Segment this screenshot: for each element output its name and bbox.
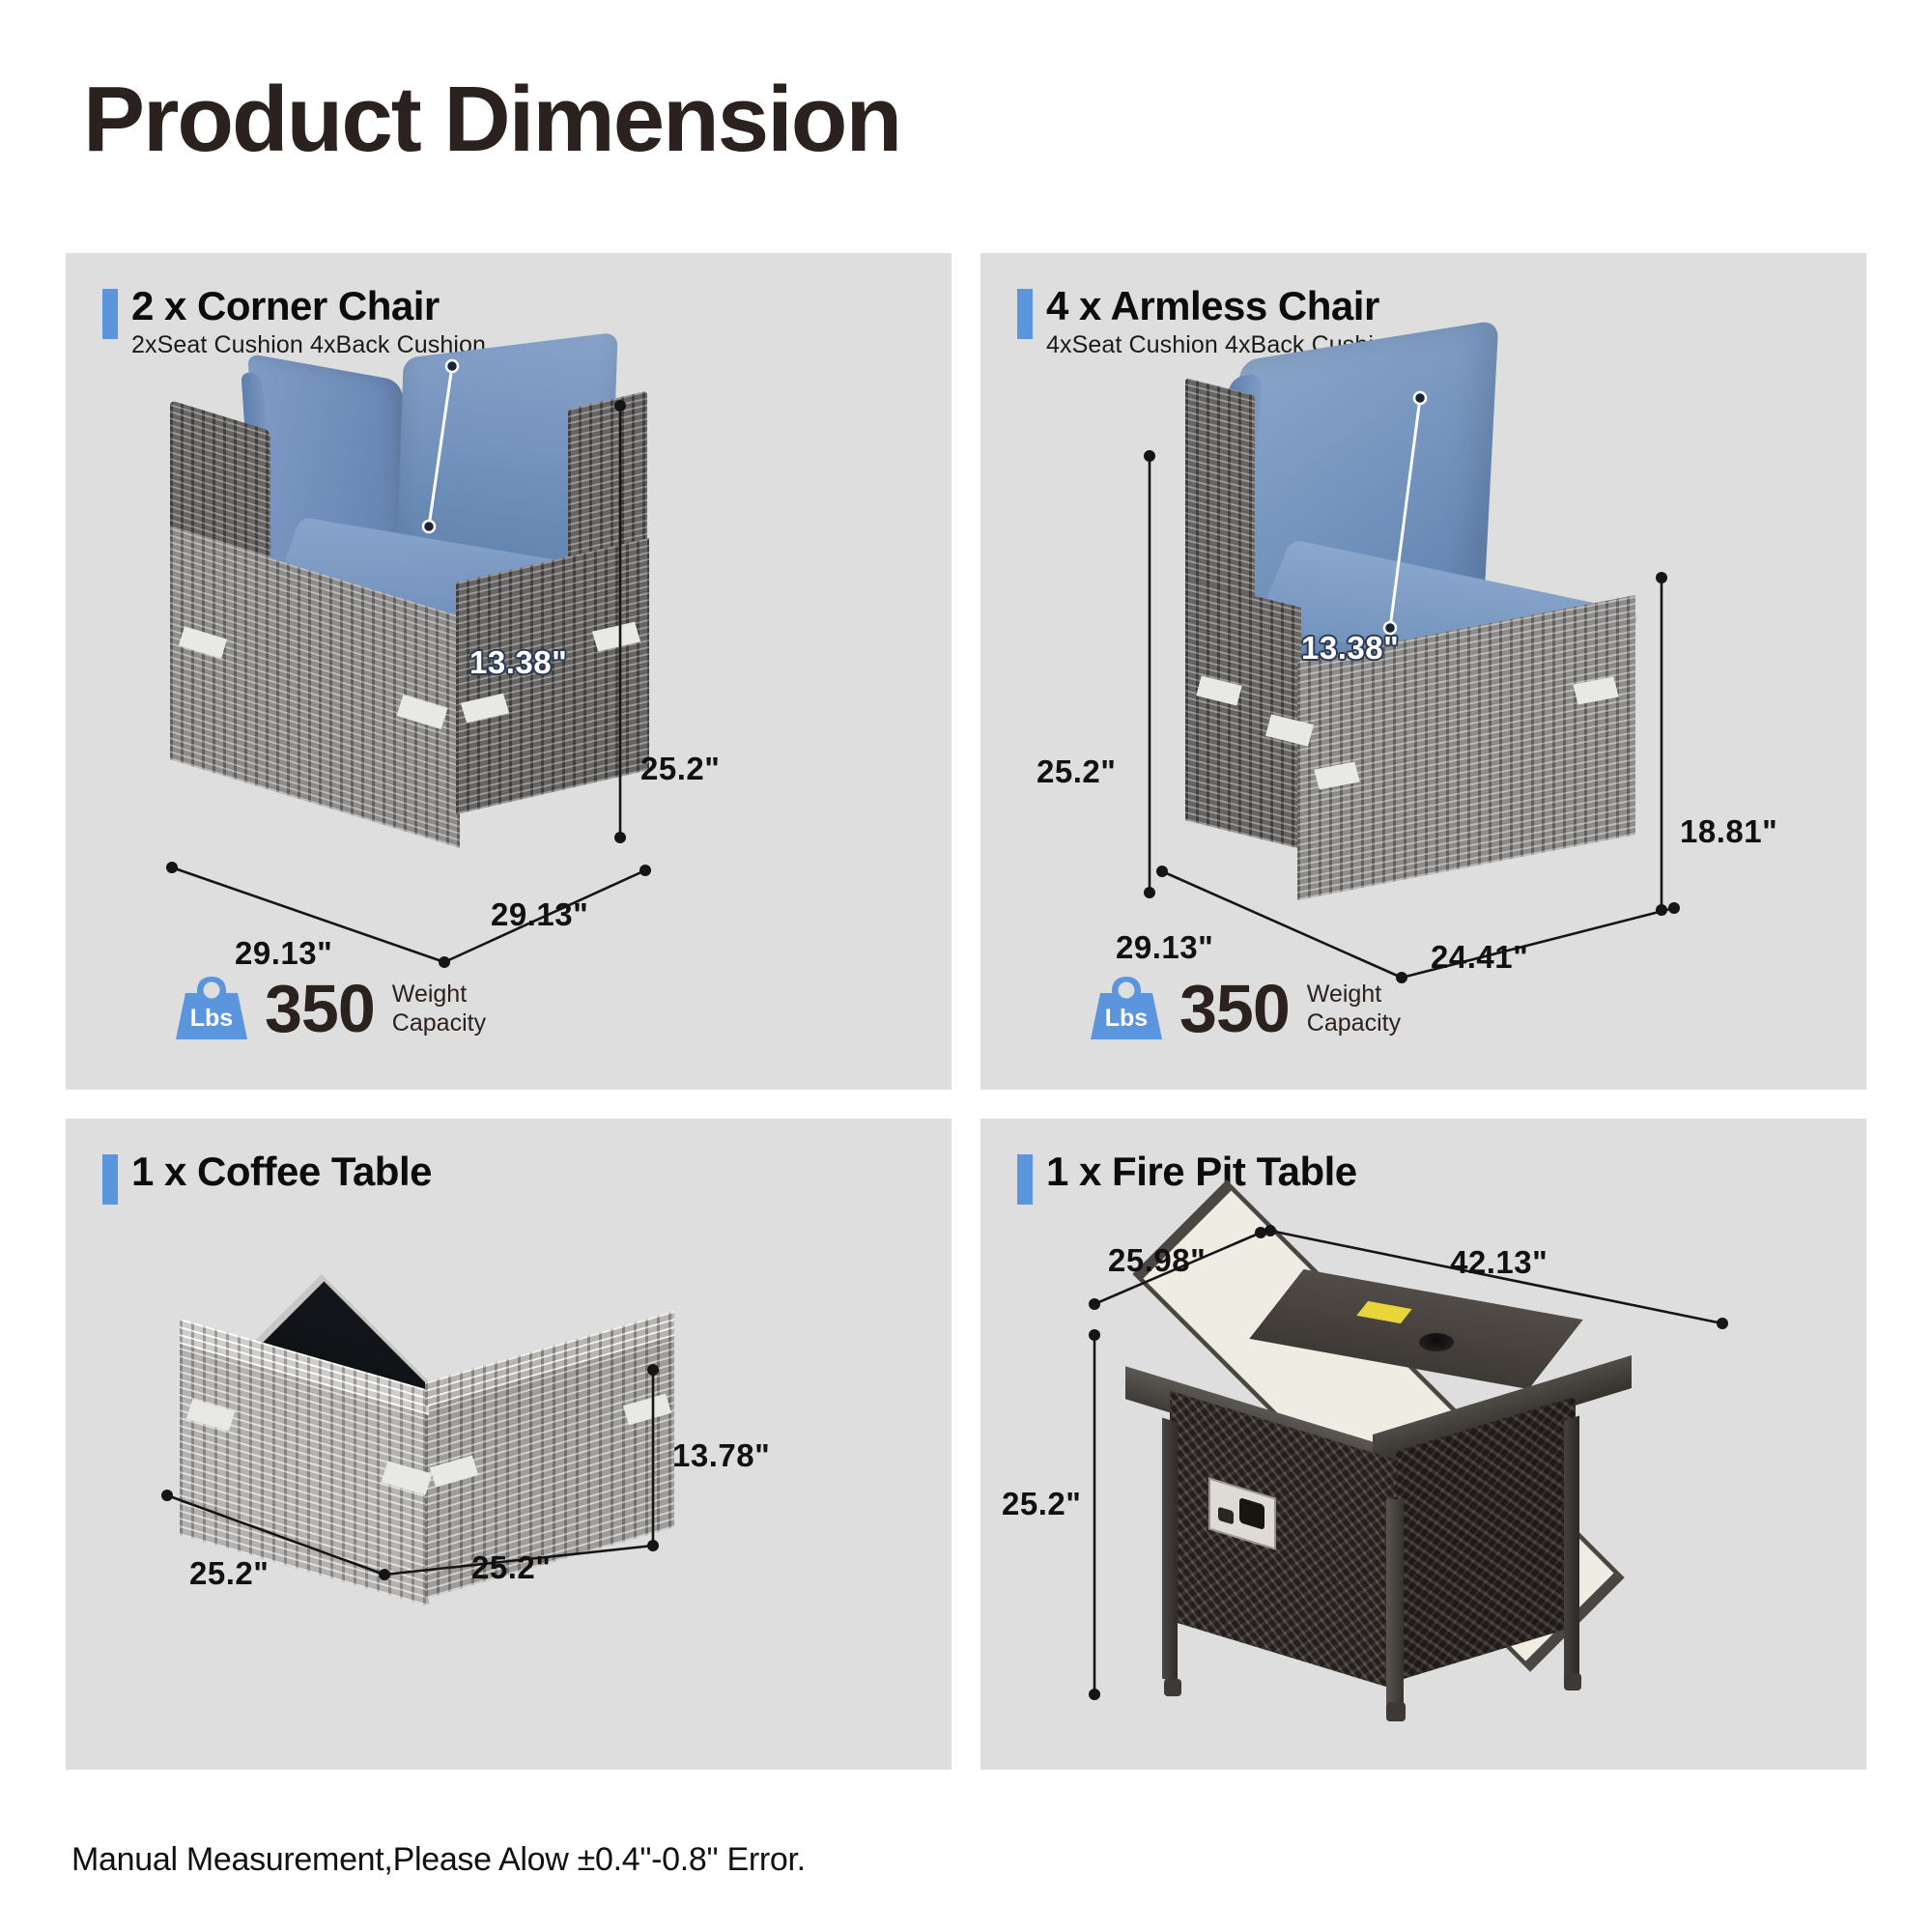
dimension-overall-height: 25.2": [640, 751, 720, 787]
svg-text:Lbs: Lbs: [190, 1005, 233, 1032]
dimension-depth: 25.2": [189, 1555, 269, 1592]
dimension-seat-height: 18.81": [1680, 813, 1777, 850]
manual-measurement-note: Manual Measurement,Please Alow ±0.4"-0.8…: [71, 1841, 806, 1879]
dimension-back-cushion-height: 13.38": [1301, 630, 1399, 667]
panel-corner-chair: 2 x Corner Chair 2xSeat Cushion 4xBack C…: [66, 253, 952, 1090]
dimension-depth-left: 29.13": [235, 935, 332, 972]
corner-chair-illustration: [66, 253, 952, 987]
fire-pit-table-illustration: [980, 1119, 1866, 1770]
product-dimension-infographic: Product Dimension 2 x Corner Chair 2xSea…: [0, 0, 1932, 1932]
dimension-depth: 25.98": [1108, 1242, 1206, 1279]
dimension-depth-right: 29.13": [491, 896, 588, 933]
dimension-overall-height: 25.2": [1037, 753, 1116, 790]
weight-capacity-label-line2: Capacity: [392, 1009, 486, 1038]
weight-capacity-label-line1: Weight: [392, 980, 486, 1009]
weight-capacity-value: 350: [1179, 975, 1290, 1042]
dimension-height: 13.78": [672, 1437, 770, 1474]
weight-capacity-label-line2: Capacity: [1307, 1009, 1401, 1038]
dimension-width: 42.13": [1450, 1244, 1548, 1281]
panel-fire-pit-table: 1 x Fire Pit Table: [980, 1119, 1866, 1770]
weight-lbs-icon: Lbs: [1089, 974, 1164, 1043]
dimension-depth: 29.13": [1116, 929, 1213, 966]
weight-lbs-icon: Lbs: [174, 974, 249, 1043]
armless-chair-illustration: [980, 253, 1866, 987]
dimension-width: 25.2": [471, 1549, 551, 1586]
page-title: Product Dimension: [83, 71, 900, 169]
weight-capacity-label-line1: Weight: [1307, 980, 1401, 1009]
panel-armless-chair: 4 x Armless Chair 4xSeat Cushion 4xBack …: [980, 253, 1866, 1090]
dimension-height: 25.2": [1002, 1486, 1081, 1522]
svg-text:Lbs: Lbs: [1105, 1005, 1148, 1032]
weight-capacity-badge: Lbs 350 Weight Capacity: [174, 974, 486, 1043]
panel-coffee-table: 1 x Coffee Table: [66, 1119, 952, 1770]
weight-capacity-badge: Lbs 350 Weight Capacity: [1089, 974, 1401, 1043]
panels-grid: 2 x Corner Chair 2xSeat Cushion 4xBack C…: [66, 253, 1866, 1770]
dimension-width: 24.41": [1431, 939, 1528, 976]
weight-capacity-value: 350: [265, 975, 375, 1042]
coffee-table-illustration: [66, 1119, 952, 1770]
dimension-back-cushion-height: 13.38": [469, 644, 567, 681]
